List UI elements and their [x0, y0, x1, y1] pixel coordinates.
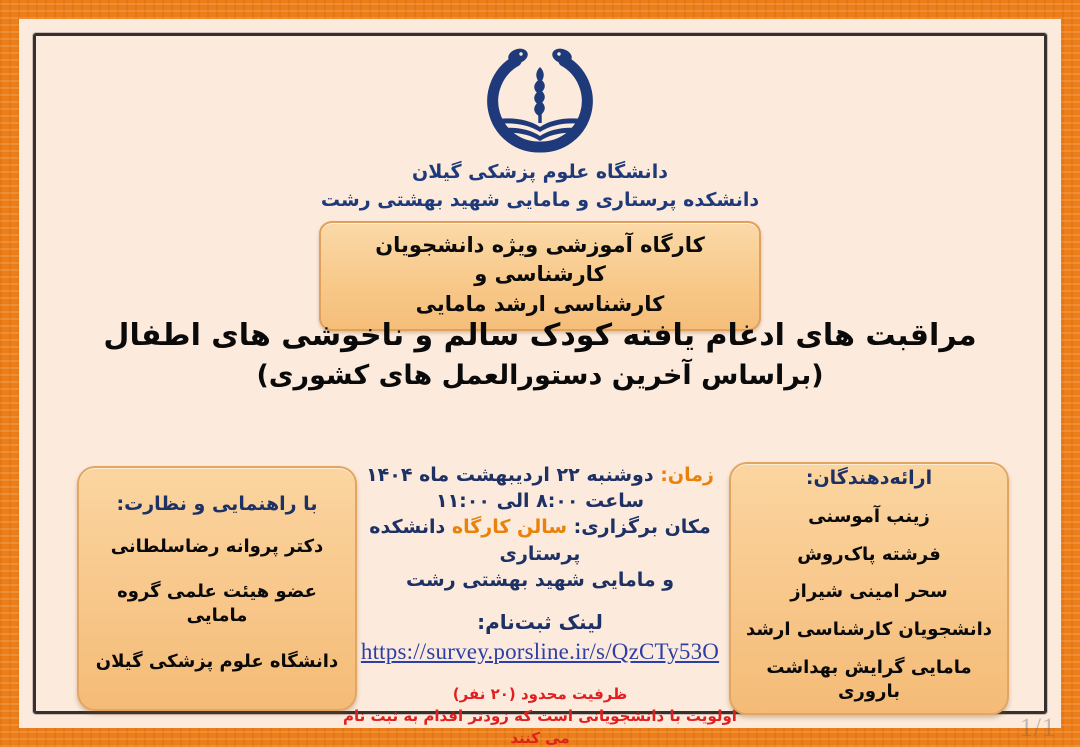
time-value: دوشنبه ۲۲ اردیبهشت ماه ۱۴۰۴ [366, 464, 654, 486]
event-venue-row: مکان برگزاری: سالن کارگاه دانشکده پرستار… [340, 514, 740, 566]
event-time-row: زمان: دوشنبه ۲۲ اردیبهشت ماه ۱۴۰۴ [340, 462, 740, 488]
event-venue-line2: و مامایی شهید بهشتی رشت [340, 567, 740, 593]
presenter-item: زینب آموسنی [741, 505, 997, 529]
presenters-panel: ارائه‌دهندگان: زینب آموسنی فرشته پاک‌روش… [729, 462, 1009, 715]
supervision-heading: با راهنمایی و نظارت: [89, 493, 345, 515]
presenter-item: فرشته پاک‌روش [741, 543, 997, 567]
presenter-item: سحر امینی شیراز [741, 580, 997, 604]
presenters-heading: ارائه‌دهندگان: [741, 467, 997, 489]
presenter-item: دانشجویان کارشناسی ارشد [741, 618, 997, 642]
registration-label: لینک ثبت‌نام: [340, 610, 740, 634]
institution-header: دانشگاه علوم پزشکی گیلان دانشکده پرستاری… [19, 159, 1061, 214]
supervision-panel: با راهنمایی و نظارت: دکتر پروانه رضاسلطا… [77, 466, 357, 711]
registration-link[interactable]: https://survey.porsline.ir/s/QzCTy53O [340, 639, 740, 665]
university-emblem-icon [484, 45, 596, 153]
warning-line-2: اولویت با دانشجویانی است که زودتر اقدام … [340, 706, 740, 747]
page-indicator: 1/1 [1020, 713, 1056, 743]
supervision-item: دانشگاه علوم پزشکی گیلان [89, 650, 345, 674]
logo-container [19, 45, 1061, 153]
faculty-name: دانشکده پرستاری و مامایی شهید بهشتی رشت [19, 187, 1061, 215]
venue-label: مکان برگزاری: [574, 516, 711, 538]
venue-accent: سالن کارگاه [452, 516, 567, 538]
page-title: مراقبت های ادغام یافته کودک سالم و ناخوش… [59, 315, 1021, 395]
warning-line-1: ظرفیت محدود (۲۰ نفر) [340, 684, 740, 706]
title-main-line: مراقبت های ادغام یافته کودک سالم و ناخوش… [59, 315, 1021, 357]
supervision-item: عضو هیئت علمی گروه مامایی [89, 580, 345, 628]
event-details: زمان: دوشنبه ۲۲ اردیبهشت ماه ۱۴۰۴ ساعت ۸… [340, 462, 740, 747]
time-label: زمان: [660, 464, 714, 486]
poster-page: دانشگاه علوم پزشکی گیلان دانشکده پرستاری… [0, 0, 1080, 747]
university-name: دانشگاه علوم پزشکی گیلان [19, 159, 1061, 187]
event-hours: ساعت ۸:۰۰ الی ۱۱:۰۰ [340, 488, 740, 514]
title-sub-line: (براساس آخرین دستورالعمل های کشوری) [59, 357, 1021, 395]
poster-content: دانشگاه علوم پزشکی گیلان دانشکده پرستاری… [19, 19, 1061, 728]
audience-line-1: کارگاه آموزشی ویژه دانشجویان کارشناسی و [331, 231, 749, 290]
presenter-item: مامایی گرایش بهداشت باروری [741, 656, 997, 704]
poster-paper: دانشگاه علوم پزشکی گیلان دانشکده پرستاری… [19, 19, 1061, 728]
supervision-item: دکتر پروانه رضاسلطانی [89, 535, 345, 559]
capacity-warning: ظرفیت محدود (۲۰ نفر) اولویت با دانشجویان… [340, 684, 740, 747]
